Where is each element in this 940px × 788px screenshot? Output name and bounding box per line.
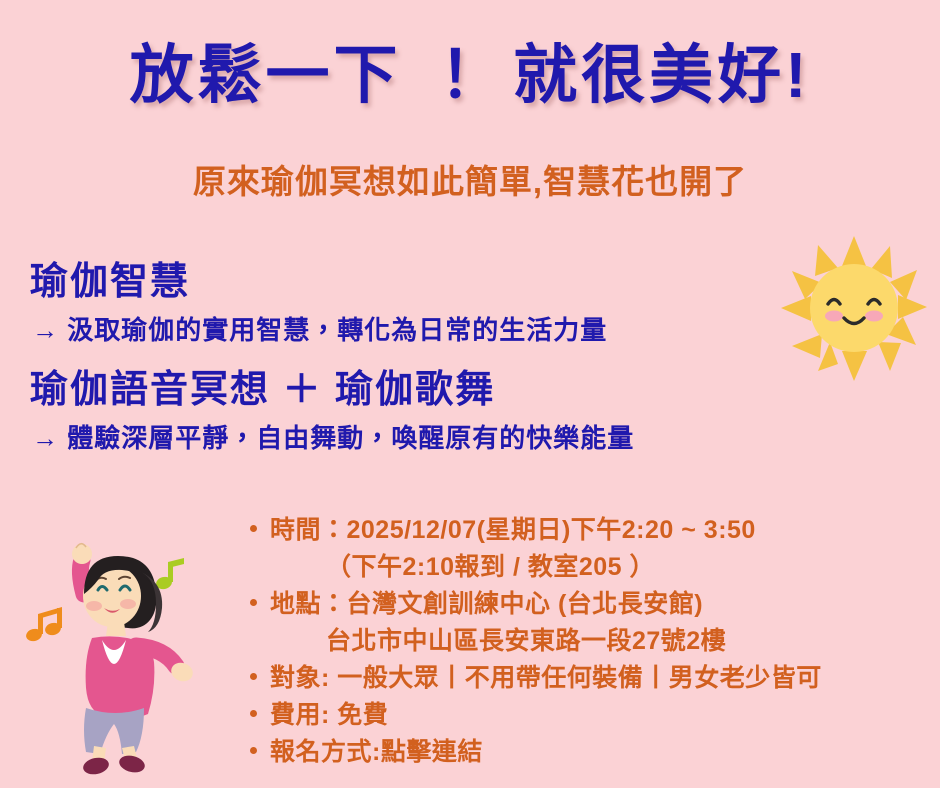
detail-address: 台北市中山區長安東路一段27號2樓 (248, 623, 928, 660)
section-description-yoga-wisdom: → 汲取瑜伽的實用智慧，轉化為日常的生活力量 (32, 310, 607, 347)
detail-time-note: （下午2:10報到 / 教室205 ） (248, 549, 928, 586)
detail-item-fee: 費用: 免費 (248, 697, 928, 734)
music-note-green (155, 558, 184, 591)
bullet-dot-icon (250, 710, 257, 717)
section-heading-meditation-dance: 瑜伽語音冥想 ＋ 瑜伽歌舞 (30, 358, 495, 413)
detail-item-signup[interactable]: 報名方式:點擊連結 (248, 734, 928, 771)
detail-fee-text: 費用: 免費 (270, 701, 388, 729)
page-subtitle: 原來瑜伽冥想如此簡單,智慧花也開了 (0, 155, 940, 203)
detail-address-text: 台北市中山區長安東路一段27號2樓 (326, 627, 726, 655)
music-note-orange (25, 607, 62, 643)
poster-canvas: 放鬆一下 ！ 就很美好! 原來瑜伽冥想如此簡單,智慧花也開了 瑜伽智慧 → 汲取… (0, 0, 940, 788)
bullet-dot-icon (250, 673, 257, 680)
detail-audience-text: 對象: 一般大眾丨不用帶任何裝備丨男女老少皆可 (270, 664, 822, 692)
bullet-dot-icon (250, 525, 257, 532)
detail-item-time: 時間：2025/12/07(星期日)下午2:20 ~ 3:50 (248, 512, 928, 549)
section-description-meditation-dance: → 體驗深層平靜，自由舞動，喚醒原有的快樂能量 (32, 418, 634, 455)
detail-time-text: 時間：2025/12/07(星期日)下午2:20 ~ 3:50 (270, 516, 756, 544)
page-title: 放鬆一下 ！ 就很美好! (0, 42, 940, 109)
dancing-woman-illustration (16, 534, 216, 778)
section-heading-yoga-wisdom: 瑜伽智慧 (30, 250, 190, 305)
bullet-dot-icon (250, 747, 257, 754)
detail-time-note-text: （下午2:10報到 / 教室205 ） (326, 553, 655, 581)
detail-item-place: 地點：台灣文創訓練中心 (台北長安館) (248, 586, 928, 623)
detail-place-text: 地點：台灣文創訓練中心 (台北長安館) (270, 590, 703, 618)
event-details-list: 時間：2025/12/07(星期日)下午2:20 ~ 3:50 （下午2:10報… (248, 512, 928, 771)
smiling-sun-icon (778, 232, 930, 384)
detail-signup-text[interactable]: 報名方式:點擊連結 (270, 738, 483, 766)
detail-item-audience: 對象: 一般大眾丨不用帶任何裝備丨男女老少皆可 (248, 660, 928, 697)
bullet-dot-icon (250, 599, 257, 606)
